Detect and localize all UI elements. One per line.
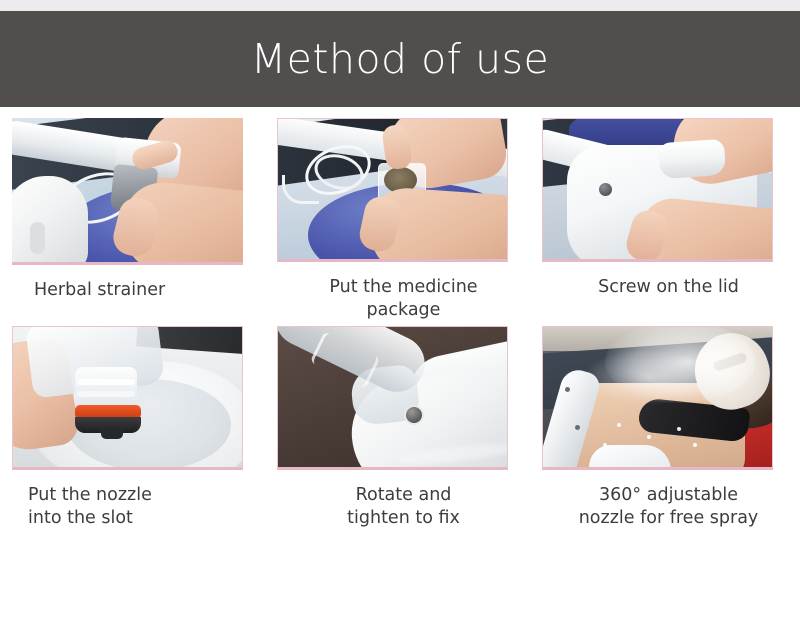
step-cell-2: Put the medicine package: [277, 118, 530, 322]
photo-rotate-tighten-to-fix: [277, 326, 508, 470]
step-cell-3: Screw on the lid: [542, 118, 795, 322]
caption-line: nozzle for free spray: [542, 507, 795, 530]
photo-herbal-strainer: [12, 118, 243, 265]
caption-line: Put the medicine: [277, 276, 530, 299]
caption-line: Put the nozzle: [28, 484, 265, 507]
steam-cloud-secondary: [583, 349, 713, 405]
black-base-tab: [101, 429, 123, 439]
steamer-slot: [30, 222, 45, 254]
caption-line: Herbal strainer: [34, 279, 265, 302]
power-cord-tail: [282, 175, 319, 204]
page-root: Method of use Herbal strainer: [0, 0, 800, 623]
caption-line: tighten to fix: [277, 507, 530, 530]
header-banner: Method of use: [0, 11, 800, 107]
step-cell-5: Rotate and tighten to fix: [277, 326, 530, 530]
caption-line: Screw on the lid: [542, 276, 795, 299]
step-cell-6: 360° adjustable nozzle for free spray: [542, 326, 795, 530]
caption-line: package: [277, 299, 530, 322]
step-caption-1: Herbal strainer: [12, 279, 265, 302]
page-title: Method of use: [251, 39, 549, 80]
photo-put-medicine-package: [277, 118, 508, 262]
photo-put-nozzle-into-slot: [12, 326, 243, 470]
caption-line: 360° adjustable: [542, 484, 795, 507]
photo-screw-on-lid: [542, 118, 773, 262]
top-strip: [0, 0, 800, 11]
step-caption-3: Screw on the lid: [542, 276, 795, 299]
nozzle-thread-lower: [77, 391, 135, 397]
caption-line: into the slot: [28, 507, 265, 530]
nozzle-base: [589, 445, 671, 470]
steps-grid: Herbal strainer Put the medicin: [0, 118, 800, 534]
photo-360-adjustable-nozzle: [542, 326, 773, 470]
step-caption-2: Put the medicine package: [277, 276, 530, 322]
step-cell-1: Herbal strainer: [12, 118, 265, 322]
step-cell-4: Put the nozzle into the slot: [12, 326, 265, 530]
power-button: [599, 183, 612, 196]
caption-line: Rotate and: [277, 484, 530, 507]
steamer-body: [12, 176, 88, 265]
step-caption-4: Put the nozzle into the slot: [12, 484, 265, 530]
device-lid: [658, 139, 726, 180]
step-caption-5: Rotate and tighten to fix: [277, 484, 530, 530]
nozzle-thread-upper: [77, 379, 135, 385]
step-caption-6: 360° adjustable nozzle for free spray: [542, 484, 795, 530]
